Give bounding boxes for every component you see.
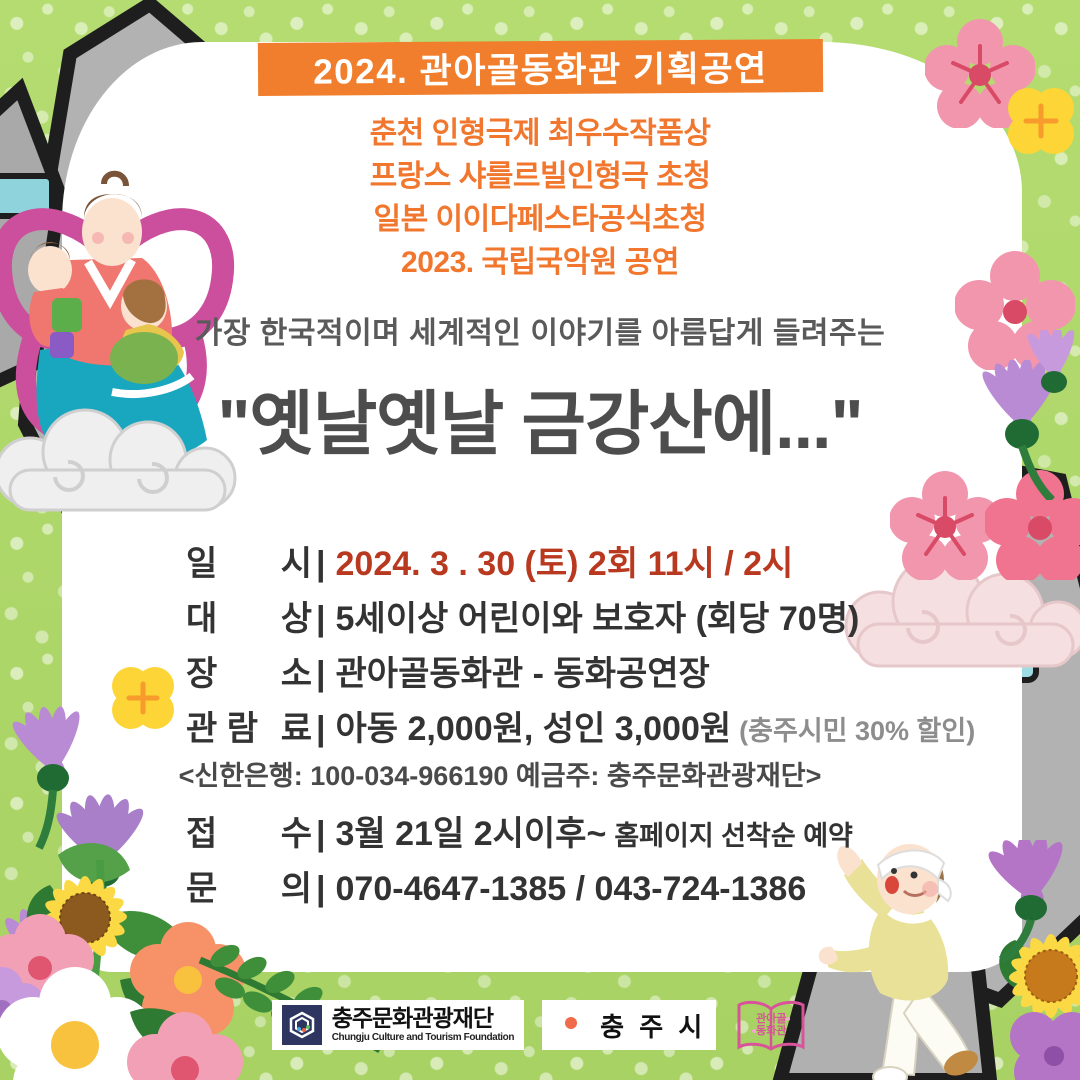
foundation-name-kr: 충주문화관광재단 [332, 1007, 514, 1030]
title-banner: 2024. 관아골동화관 기획공연 [258, 39, 823, 96]
info-block: 일 시 | 2024. 3 . 30 (토) 2회 11시 / 2시 대 상 |… [186, 536, 1046, 756]
subtitle-line-4: 2023. 국립국악원 공연 [0, 241, 1080, 284]
subtitle-line-2: 프랑스 샤를르빌인형극 초청 [0, 155, 1080, 198]
show-title: "옛날옛날 금강산에..." [0, 368, 1080, 469]
info-divider: | [316, 655, 326, 694]
info-divider: | [316, 710, 326, 749]
info-note-booking: 홈페이지 선착순 예약 [614, 814, 853, 853]
info-value-booking: 3월 21일 2시이후~ [336, 806, 607, 855]
info-label-date: 일 시 [186, 536, 312, 585]
info-row-booking: 접 수 | 3월 21일 2시이후~ 홈페이지 선착순 예약 [186, 806, 1046, 856]
logo-chungju-city: 충 주 시 [542, 1000, 716, 1050]
info-divider: | [316, 600, 326, 639]
footer-logos: 충주문화관광재단 Chungju Culture and Tourism Fou… [0, 990, 1080, 1060]
info-divider: | [316, 545, 326, 584]
info-label-price: 관 람 료 [186, 701, 312, 750]
city-name: 충 주 시 [600, 1007, 706, 1044]
info-label-venue: 장 소 [186, 646, 312, 695]
info-label-audience: 대 상 [186, 591, 312, 640]
info-row-price: 관 람 료 | 아동 2,000원, 성인 3,000원 (충주시민 30% 할… [186, 701, 1046, 751]
subtitle-line-1: 춘천 인형극제 최우수작품상 [0, 112, 1080, 155]
info-note-discount: (충주시민 30% 할인) [739, 709, 975, 748]
poster-canvas: 2024. 관아골동화관 기획공연 춘천 인형극제 최우수작품상 프랑스 샤를르… [0, 0, 1080, 1080]
foundation-emblem-icon [282, 1005, 322, 1045]
info-row-contact: 문 의 | 070-4647-1385 / 043-724-1386 [186, 861, 1046, 911]
hall-name: 관아골동화관 [734, 997, 808, 1053]
subtitle-line-3: 일본 이이다페스타공식초청 [0, 198, 1080, 241]
banner-text: 2024. 관아골동화관 기획공연 [313, 40, 768, 94]
info-row-date: 일 시 | 2024. 3 . 30 (토) 2회 11시 / 2시 [186, 536, 1046, 586]
info-label-booking: 접 수 [186, 806, 312, 855]
info-value-contact: 070-4647-1385 / 043-724-1386 [336, 870, 807, 909]
logo-gwanagol-fairytale-hall: 관아골동화관 [734, 997, 808, 1053]
info-divider: | [316, 870, 326, 909]
info-value-audience: 5세이상 어린이와 보호자 (회당 70명) [336, 591, 860, 640]
logo-chungju-culture-foundation: 충주문화관광재단 Chungju Culture and Tourism Fou… [272, 1000, 524, 1050]
info-row-audience: 대 상 | 5세이상 어린이와 보호자 (회당 70명) [186, 591, 1046, 641]
info-divider: | [316, 815, 326, 854]
tagline: 가장 한국적이며 세계적인 이야기를 아름답게 들려주는 [0, 308, 1080, 352]
info-label-contact: 문 의 [186, 861, 312, 910]
info-value-date: 2024. 3 . 30 (토) 2회 11시 / 2시 [336, 536, 794, 585]
info-value-venue: 관아골동화관 - 동화공연장 [336, 646, 710, 695]
foundation-name-en: Chungju Culture and Tourism Foundation [332, 1033, 514, 1043]
city-emblem-icon [552, 1006, 590, 1044]
info-block-2: 접 수 | 3월 21일 2시이후~ 홈페이지 선착순 예약 문 의 | 070… [186, 806, 1046, 916]
info-row-venue: 장 소 | 관아골동화관 - 동화공연장 [186, 646, 1046, 696]
info-value-price: 아동 2,000원, 성인 3,000원 [336, 701, 732, 750]
subtitle-block: 춘천 인형극제 최우수작품상 프랑스 샤를르빌인형극 초청 일본 이이다페스타공… [0, 112, 1080, 284]
bank-account-line: <신한은행: 100-034-966190 예금주: 충주문화관광재단> [0, 754, 1000, 793]
foundation-name: 충주문화관광재단 Chungju Culture and Tourism Fou… [332, 1007, 514, 1043]
